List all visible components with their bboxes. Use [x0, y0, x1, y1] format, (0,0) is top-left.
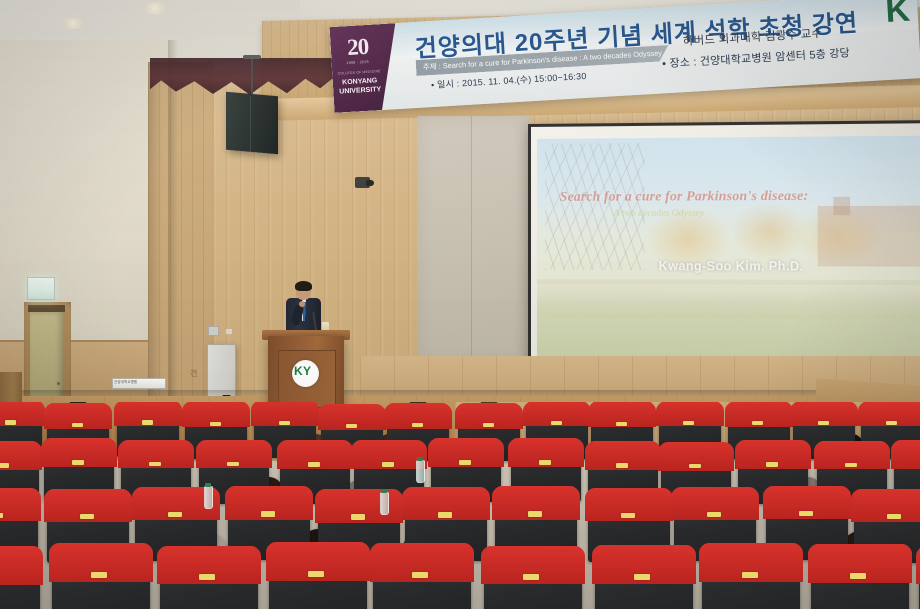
seat-number-tag [616, 422, 627, 426]
door-handle-icon[interactable] [57, 382, 60, 385]
seat-number-tag [766, 462, 778, 467]
auditorium-seat[interactable] [0, 550, 40, 609]
speaker-mount-bracket [243, 55, 261, 59]
ceiling-downlight [140, 2, 170, 14]
slide-author-text: Kwang-Soo Kim, Ph.D. [537, 259, 920, 274]
exit-sign [27, 277, 55, 300]
auditorium-seat[interactable] [52, 547, 150, 609]
wall-outlet-plate [226, 329, 232, 334]
auditorium-seat[interactable] [269, 546, 367, 609]
seat-number-tag [346, 424, 357, 428]
ceiling-downlight [58, 18, 88, 29]
seat-number-tag [799, 511, 813, 516]
seat-number-tag [308, 571, 324, 577]
seat-number-tag [528, 511, 542, 516]
seat-number-tag [689, 464, 701, 469]
seat-number-tag [887, 514, 901, 519]
water-bottle [204, 486, 213, 509]
seat-number-tag [149, 462, 161, 467]
seat-number-tag [72, 460, 84, 465]
seat-number-tag [551, 421, 562, 425]
seat-number-tag [412, 423, 423, 427]
projection-screen: Search for a cure for Parkinson's diseas… [528, 120, 920, 376]
konyang-20th-emblem: 20 1995 - 2015 COLLEGE OF MEDICINE KONYA… [329, 23, 400, 113]
presenter-hand [299, 301, 305, 307]
presenter-hair [295, 281, 312, 291]
seat-number-tag [483, 423, 494, 427]
wall-corner-shadow [168, 40, 178, 400]
water-bottle [416, 460, 425, 483]
seat-number-tag [621, 513, 635, 518]
seat-number-tag [886, 421, 897, 425]
speaker-suspension-rod [251, 58, 253, 96]
seat-number-tag [168, 512, 182, 517]
acoustic-wall-panel [417, 116, 529, 364]
slide-title-text: Search for a cure for Parkinson's diseas… [560, 187, 906, 205]
emblem-college: COLLEGE OF MEDICINE [335, 69, 383, 76]
seat-number-tag [0, 463, 9, 468]
seat-number-tag [683, 421, 694, 425]
seat-number-tag [210, 422, 221, 426]
emblem-number: 20 [334, 34, 381, 60]
seat-number-tag [523, 574, 539, 580]
slide-photo-path [537, 284, 920, 306]
seat-number-tag [850, 573, 866, 579]
seat-number-tag [5, 420, 16, 424]
seat-number-tag [308, 462, 320, 467]
seat-number-tag [539, 460, 551, 465]
seat-number-tag [412, 572, 428, 578]
seat-number-tag [279, 421, 290, 425]
seat-number-tag [142, 420, 153, 424]
seat-number-tag [382, 462, 394, 467]
seat-number-tag [80, 514, 94, 519]
wall-camera-lens-icon [366, 180, 374, 186]
loudspeaker-seam [250, 96, 251, 152]
seat-number-tag [72, 423, 83, 427]
seat-number-tag [752, 421, 763, 425]
wall-outlet-plate [208, 326, 219, 336]
seat-number-tag [707, 512, 721, 517]
seat-number-tag [0, 513, 3, 518]
seat-number-tag [818, 421, 829, 425]
seat-number-tag [742, 572, 758, 578]
hall-nameplate-text: 건양대학교병원 [114, 379, 162, 384]
ky-logo-y: Y [303, 365, 311, 377]
seat-number-tag [634, 574, 650, 580]
hanging-loudspeaker [226, 92, 278, 155]
stage-left-wall-return [148, 62, 214, 402]
slide-photo-tree [545, 143, 645, 271]
seat-number-tag [459, 460, 471, 465]
seat-number-tag [616, 463, 628, 468]
seat-number-tag [845, 463, 857, 468]
side-door-header [28, 305, 65, 312]
ky-logo-k: K [294, 365, 303, 377]
emblem-university: KONYANG UNIVERSITY [335, 77, 386, 97]
water-bottle-cap [205, 483, 211, 487]
seat-number-tag [227, 462, 239, 467]
seat-number-tag [199, 574, 215, 580]
seat-number-tag [438, 512, 452, 517]
seat-number-tag [261, 511, 275, 516]
presentation-slide: Search for a cure for Parkinson's diseas… [537, 136, 920, 369]
audience-seating [0, 402, 920, 609]
seat-number-tag [91, 572, 107, 578]
konyang-k-logo-icon: K [884, 0, 910, 31]
auditorium-seat[interactable] [702, 547, 800, 609]
water-bottle [380, 492, 389, 515]
acoustic-panel-seam [471, 116, 472, 364]
emblem-years: 1995 - 2015 [336, 59, 380, 66]
auditorium-seat[interactable] [373, 547, 471, 609]
water-bottle-cap [381, 489, 387, 493]
lecture-hall-photo: 건 양 대 20 1995 - 2015 COLLEGE OF MEDICINE… [0, 0, 920, 609]
slide-subtitle-text: A two decades Odyssey [614, 208, 890, 219]
seat-number-tag [351, 514, 365, 519]
water-bottle-cap [417, 457, 423, 461]
